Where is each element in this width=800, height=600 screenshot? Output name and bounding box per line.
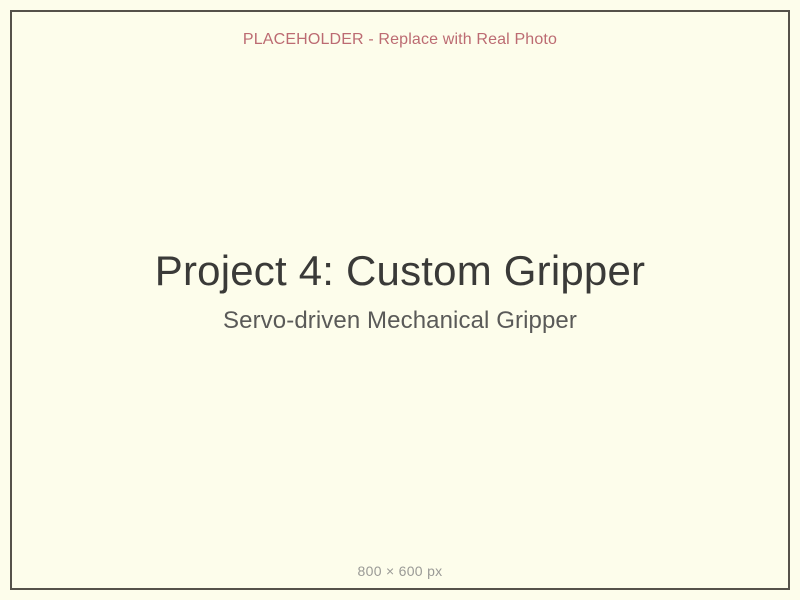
- dimension-label: 800 × 600 px: [0, 561, 800, 581]
- project-title: Project 4: Custom Gripper: [0, 243, 800, 299]
- placeholder-notice-text: PLACEHOLDER - Replace with Real Photo: [0, 29, 800, 51]
- placeholder-center-block: Project 4: Custom Gripper Servo-driven M…: [0, 243, 800, 337]
- image-placeholder-card: PLACEHOLDER - Replace with Real Photo Pr…: [0, 0, 800, 600]
- project-subtitle: Servo-driven Mechanical Gripper: [0, 305, 800, 337]
